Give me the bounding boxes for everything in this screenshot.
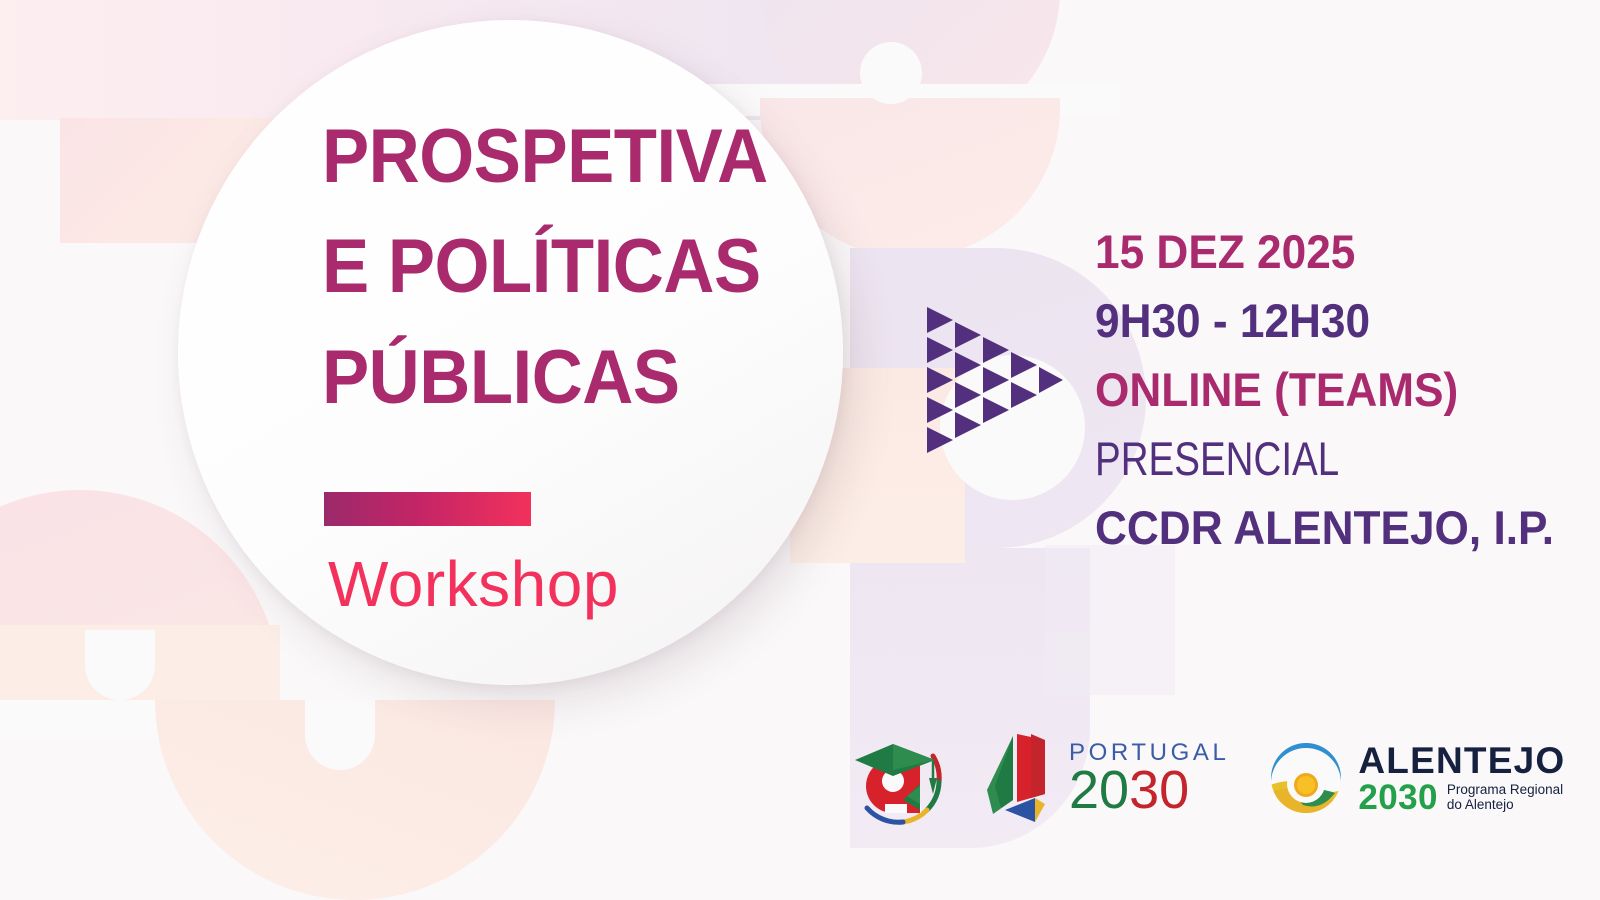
page-title: PROSPETIVA E POLÍTICAS PÚBLICAS <box>322 118 742 449</box>
portugal-year: 2030 <box>1069 766 1229 816</box>
detail-venue: CCDR ALENTEJO, I.P. <box>1095 504 1509 551</box>
divider-bar <box>324 492 531 526</box>
detail-online: ONLINE (TEAMS) <box>1095 366 1509 413</box>
title-line-2: E POLÍTICAS <box>322 228 713 306</box>
detail-date: 15 DEZ 2025 <box>1095 228 1509 275</box>
title-line-3: PÚBLICAS <box>322 339 713 417</box>
alentejo-subtitle: Programa Regional do Alentejo <box>1447 782 1563 814</box>
alentejo-circle-mark <box>1263 735 1349 821</box>
logo-row: PORTUGAL 2030 <box>845 718 1565 838</box>
subtitle-workshop: Workshop <box>328 552 619 616</box>
detail-presencial: PRESENCIAL <box>1095 435 1456 482</box>
alentejo-year: 2030 <box>1358 781 1437 814</box>
alentejo-subtitle-line1: Programa Regional <box>1447 782 1563 797</box>
event-details: 15 DEZ 2025 9H30 - 12H30 ONLINE (TEAMS) … <box>1095 228 1535 573</box>
bg-notch-bottom-left <box>85 630 155 700</box>
portugal-year-30: 30 <box>1129 760 1189 820</box>
logo-portugal-2030: PORTUGAL 2030 <box>983 728 1229 828</box>
event-banner: PROSPETIVA E POLÍTICAS PÚBLICAS Workshop <box>0 0 1600 900</box>
logo-alentejo-2030: ALENTEJO 2030 Programa Regional do Alent… <box>1263 735 1565 821</box>
bg-notch-top <box>860 42 922 104</box>
bg-notch-bottom-center <box>305 700 375 770</box>
portugal-flag-mark <box>983 728 1059 828</box>
alentejo-word: ALENTEJO <box>1358 742 1565 779</box>
title-line-1: PROSPETIVA <box>322 118 713 196</box>
logo-ccdr-alentejo <box>845 726 949 830</box>
detail-time: 9H30 - 12H30 <box>1095 297 1509 344</box>
portugal-year-20: 20 <box>1069 760 1129 820</box>
play-triangle-icon <box>925 305 1065 455</box>
alentejo-subtitle-line2: do Alentejo <box>1447 797 1563 812</box>
